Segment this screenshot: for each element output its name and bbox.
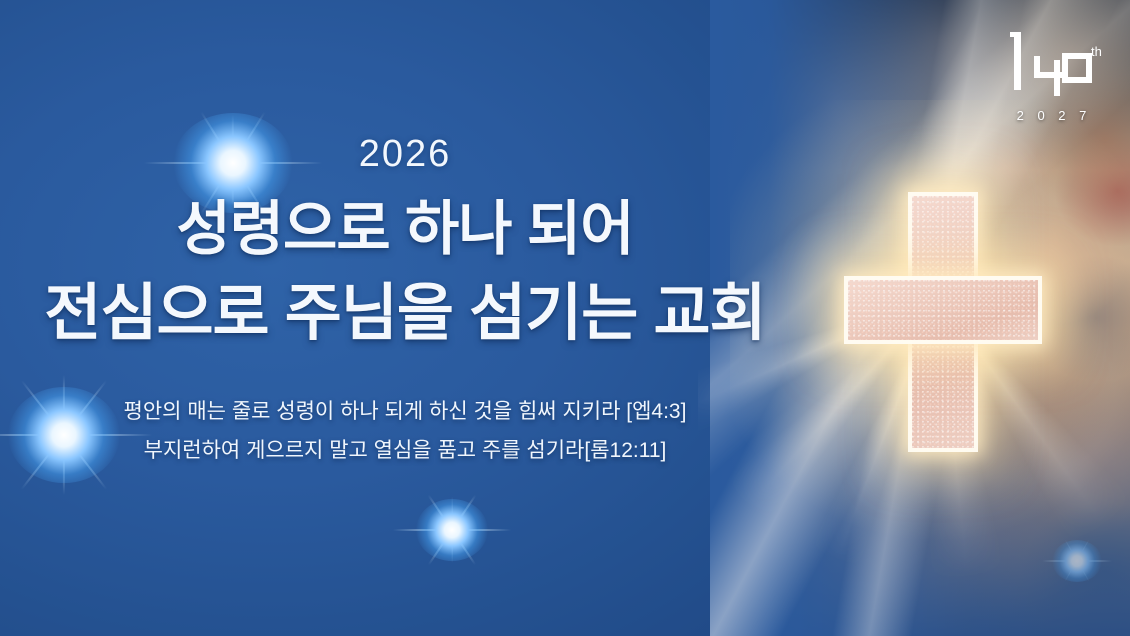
cross-horizontal-bar <box>848 280 1038 340</box>
vision-year: 2026 <box>0 133 810 176</box>
scripture-verse-line-1: 평안의 매는 줄로 성령이 하나 되게 하신 것을 힘써 지키라 [엡4:3] <box>0 395 810 425</box>
logo-ordinal-suffix: th <box>1091 44 1102 59</box>
logo-140th-mark: th <box>1002 26 1106 102</box>
scripture-verse-line-2: 부지런하여 게으르지 말고 열심을 품고 주를 섬기라[롬12:11] <box>0 434 810 464</box>
vision-headline-line-2: 전심으로 주님을 섬기는 교회 <box>0 283 810 345</box>
banner-text-block: 2026 성령으로 하나 되어 전심으로 주님을 섬기는 교회 평안의 매는 줄… <box>0 0 810 636</box>
logo-anniversary-year: 2 0 2 7 <box>1002 108 1106 123</box>
anniversary-logo: th 2 0 2 7 <box>1002 26 1106 130</box>
glowing-cross-icon <box>848 196 1038 448</box>
church-vision-banner: 2026 성령으로 하나 되어 전심으로 주님을 섬기는 교회 평안의 매는 줄… <box>0 0 1130 636</box>
vision-headline-line-1: 성령으로 하나 되어 <box>0 200 810 259</box>
